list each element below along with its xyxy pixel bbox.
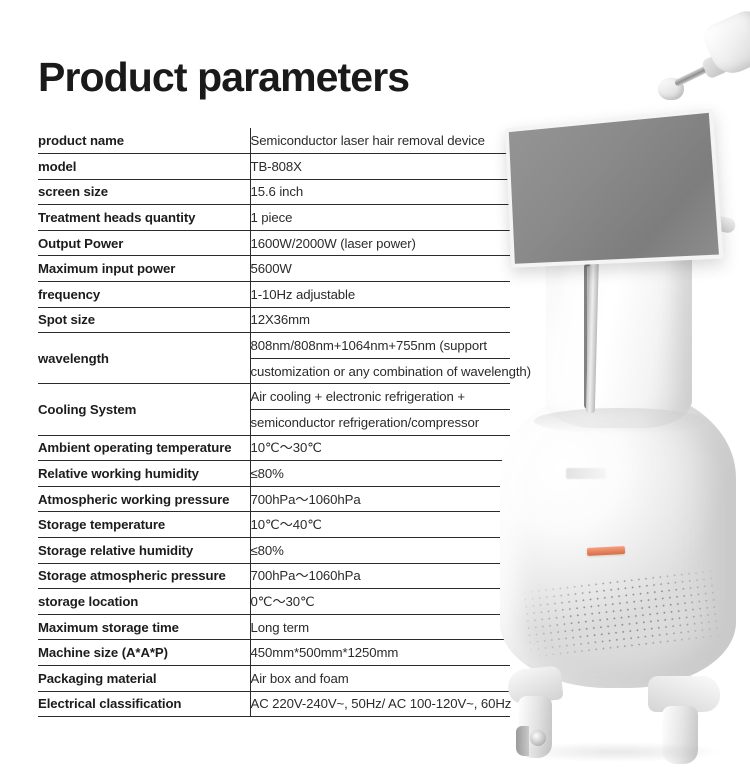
spec-value: 700hPa～1060hPa (250, 563, 510, 589)
table-row: storage location 0℃～30℃ (38, 589, 510, 615)
table-row: Maximum input power 5600W (38, 256, 510, 282)
spec-label: Storage temperature (38, 512, 250, 538)
product-image (472, 0, 750, 767)
spec-value: 1-10Hz adjustable (250, 282, 510, 308)
spec-value-line1: 808nm/808nm+1064nm+755nm (support (250, 333, 510, 359)
table-row: frequency 1-10Hz adjustable (38, 282, 510, 308)
table-row: Relative working humidity ≤80% (38, 461, 510, 487)
spec-value: 450mm*500mm*1250mm (250, 640, 510, 666)
spec-value: ≤80% (250, 538, 510, 564)
spec-label: Storage atmospheric pressure (38, 563, 250, 589)
spec-value: 10℃～30℃ (250, 435, 510, 461)
brand-logo (566, 468, 606, 479)
spec-value: 1600W/2000W (laser power) (250, 230, 510, 256)
spec-value: 10℃～40℃ (250, 512, 510, 538)
monitor-screen (505, 108, 724, 268)
table-row: Packaging material Air box and foam (38, 665, 510, 691)
spec-value-line2: customization or any combination of wave… (250, 358, 510, 384)
spec-value: 1 piece (250, 205, 510, 231)
table-row: Maximum storage time Long term (38, 614, 510, 640)
table-row: model TB-808X (38, 154, 510, 180)
spec-value: ≤80% (250, 461, 510, 487)
spec-label: Treatment heads quantity (38, 205, 250, 231)
spec-value-line1: Air cooling + electronic refrigeration + (250, 384, 510, 410)
spec-table: product name Semiconductor laser hair re… (38, 128, 510, 717)
spec-label: Machine size (A*A*P) (38, 640, 250, 666)
table-row: Ambient operating temperature 10℃～30℃ (38, 435, 510, 461)
spec-label: Storage relative humidity (38, 538, 250, 564)
spec-value-line2: semiconductor refrigeration/compressor (250, 410, 510, 436)
page-title: Product parameters (38, 54, 409, 101)
spec-label: Relative working humidity (38, 461, 250, 487)
spec-value: 5600W (250, 256, 510, 282)
table-row: Spot size 12X36mm (38, 307, 510, 333)
spec-value: 0℃～30℃ (250, 589, 510, 615)
table-row: Treatment heads quantity 1 piece (38, 205, 510, 231)
spec-value: Long term (250, 614, 510, 640)
table-row: wavelength 808nm/808nm+1064nm+755nm (sup… (38, 333, 510, 359)
table-row: Storage relative humidity ≤80% (38, 538, 510, 564)
table-row: Output Power 1600W/2000W (laser power) (38, 230, 510, 256)
caster-wheel-left-hub (530, 730, 546, 746)
table-row: Electrical classification AC 220V-240V~,… (38, 691, 510, 717)
spec-value: 700hPa～1060hPa (250, 486, 510, 512)
spec-label: Cooling System (38, 384, 250, 435)
product-parameters-page: Product parameters product name Semicond… (0, 0, 750, 767)
spec-label: Output Power (38, 230, 250, 256)
spec-label: Packaging material (38, 665, 250, 691)
spec-label: Atmospheric working pressure (38, 486, 250, 512)
spec-label: Maximum storage time (38, 614, 250, 640)
floor-shadow (512, 742, 722, 762)
spec-label: wavelength (38, 333, 250, 384)
spec-label: Spot size (38, 307, 250, 333)
spec-value: Air box and foam (250, 665, 510, 691)
device-body-seam (534, 408, 706, 434)
spec-label: frequency (38, 282, 250, 308)
spec-label: storage location (38, 589, 250, 615)
table-row: product name Semiconductor laser hair re… (38, 128, 510, 154)
spec-label: Maximum input power (38, 256, 250, 282)
table-row: Machine size (A*A*P) 450mm*500mm*1250mm (38, 640, 510, 666)
spec-value: 12X36mm (250, 307, 510, 333)
spec-value: TB-808X (250, 154, 510, 180)
table-row: Storage atmospheric pressure 700hPa～1060… (38, 563, 510, 589)
table-row: Atmospheric working pressure 700hPa～1060… (38, 486, 510, 512)
table-row: screen size 15.6 inch (38, 179, 510, 205)
spec-label: screen size (38, 179, 250, 205)
spec-value: AC 220V-240V~, 50Hz/ AC 100-120V~, 60Hz (250, 691, 510, 717)
spec-value: Semiconductor laser hair removal device (250, 128, 510, 154)
spec-label: model (38, 154, 250, 180)
spec-label: product name (38, 128, 250, 154)
spec-value: 15.6 inch (250, 179, 510, 205)
table-row: Storage temperature 10℃～40℃ (38, 512, 510, 538)
table-row: Cooling System Air cooling + electronic … (38, 384, 510, 410)
spec-label: Ambient operating temperature (38, 435, 250, 461)
spec-label: Electrical classification (38, 691, 250, 717)
